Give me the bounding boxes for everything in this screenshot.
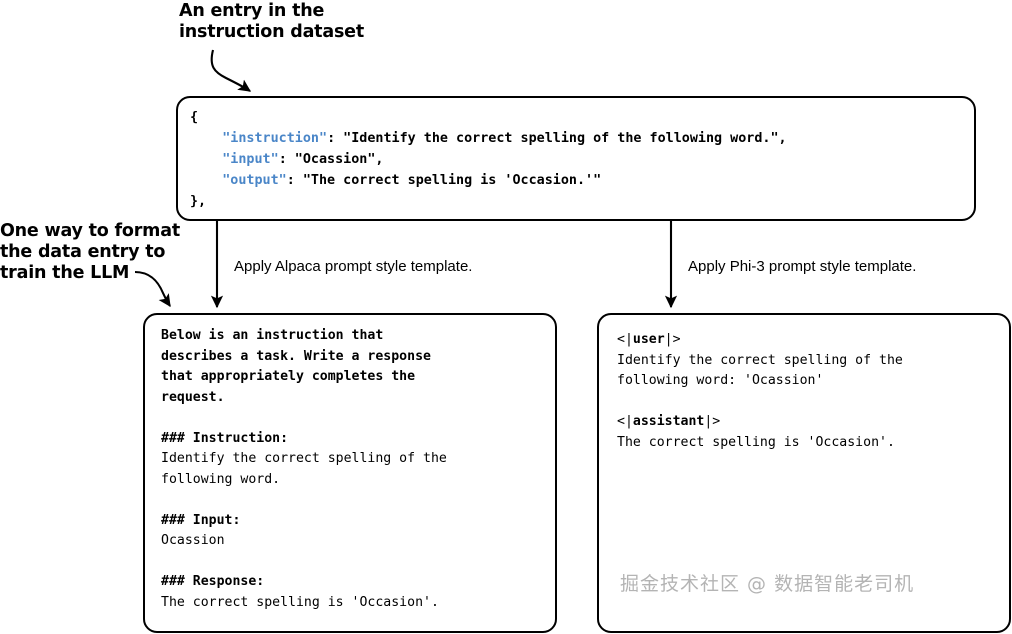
- phi3-assistant-tag-open: <|: [617, 414, 633, 429]
- alpaca-prompt-code: Below is an instruction that describes a…: [161, 326, 447, 613]
- alpaca-response-body: The correct spelling is 'Occasion'.: [161, 595, 439, 610]
- json-value-output: : "The correct spelling is 'Occasion.'": [287, 173, 601, 188]
- json-entry-code: { "instruction": "Identify the correct s…: [190, 107, 787, 212]
- phi3-user-tag-close: |>: [665, 332, 681, 347]
- alpaca-response-header: ### Response:: [161, 574, 264, 589]
- phi3-user-tag-open: <|: [617, 332, 633, 347]
- annotation-entry-label: An entry in the instruction dataset: [179, 1, 364, 43]
- json-entry-box: { "instruction": "Identify the correct s…: [176, 96, 976, 221]
- phi3-user-body: Identify the correct spelling of the fol…: [617, 353, 903, 389]
- caption-apply-alpaca-template: Apply Alpaca prompt style template.: [234, 258, 472, 276]
- alpaca-prompt-box: Below is an instruction that describes a…: [143, 313, 557, 633]
- phi3-prompt-code: <|user|> Identify the correct spelling o…: [617, 330, 903, 453]
- alpaca-instruction-body: Identify the correct spelling of the fol…: [161, 451, 447, 487]
- alpaca-input-header: ### Input:: [161, 513, 240, 528]
- alpaca-preamble: Below is an instruction that describes a…: [161, 328, 431, 405]
- alpaca-input-body: Ocassion: [161, 533, 225, 548]
- curved-arrow-entry: [212, 50, 250, 91]
- json-value-instruction: : "Identify the correct spelling of the …: [327, 131, 787, 146]
- json-value-input: : "Ocassion",: [279, 152, 384, 167]
- json-key-instruction: "instruction": [222, 131, 327, 146]
- caption-apply-phi3-template: Apply Phi-3 prompt style template.: [688, 258, 916, 276]
- json-key-input: "input": [222, 152, 278, 167]
- json-key-output: "output": [222, 173, 287, 188]
- annotation-format-label: One way to format the data entry to trai…: [0, 221, 180, 284]
- watermark-text: 掘金技术社区 @ 数据智能老司机: [620, 572, 914, 596]
- phi3-user-tag-name: user: [633, 332, 665, 347]
- json-open-brace: {: [190, 110, 198, 125]
- phi3-assistant-tag-name: assistant: [633, 414, 704, 429]
- alpaca-instruction-header: ### Instruction:: [161, 431, 288, 446]
- phi3-assistant-body: The correct spelling is 'Occasion'.: [617, 435, 895, 450]
- json-close-brace: },: [190, 194, 206, 209]
- phi3-assistant-tag-close: |>: [704, 414, 720, 429]
